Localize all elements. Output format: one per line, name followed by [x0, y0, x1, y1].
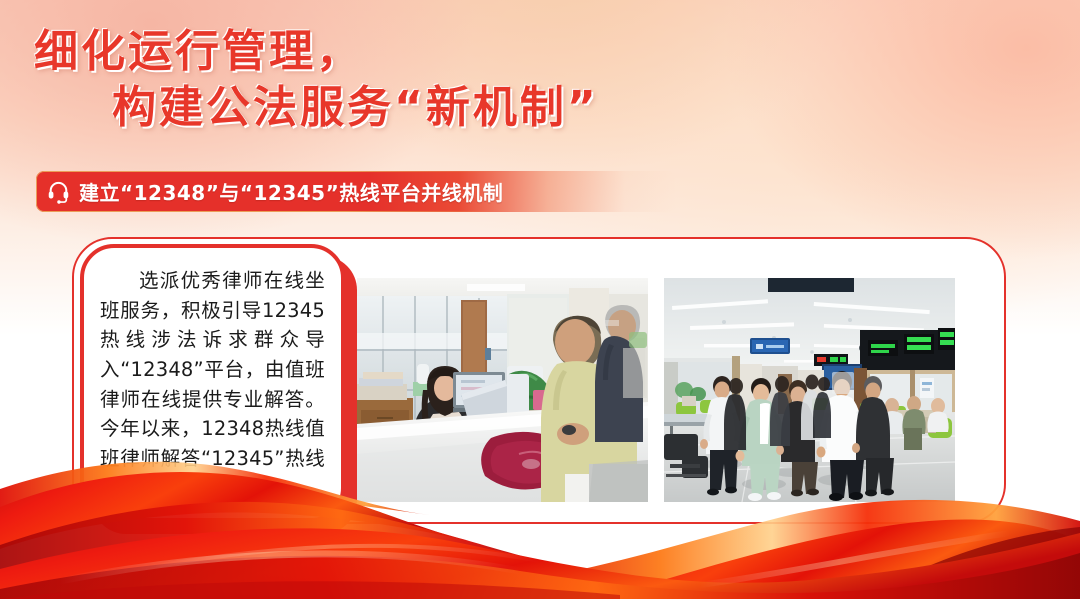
highlight-textbox: 选派优秀律师在线坐班服务，积极引导12345热线涉法诉求群众导入“12348”平… [80, 244, 345, 522]
slide-canvas: 细化运行管理， 构建公法服务“新机制” 建立“12348”与“12345”热线平… [0, 0, 1080, 599]
photo-service-hall [664, 278, 955, 502]
headset-icon [46, 179, 71, 204]
page-title: 细化运行管理， 构建公法服务“新机制” [0, 24, 1000, 137]
textbox-body-suffix: 件。 [217, 476, 256, 499]
section-banner-label: 建立“12348”与“12345”热线平台并线机制 [79, 177, 503, 206]
textbox-highlight-number: 109 [179, 476, 217, 499]
textbox-body-prefix: 选派优秀律师在线坐班服务，积极引导12345热线涉法诉求群众导入“12348”平… [100, 269, 325, 499]
textbox-paragraph: 选派优秀律师在线坐班服务，积极引导12345热线涉法诉求群众导入“12348”平… [100, 266, 325, 503]
title-line-2: 构建公法服务“新机制” [112, 80, 1000, 136]
photo-service-counter [357, 278, 648, 502]
title-line-1: 细化运行管理， [34, 24, 1000, 80]
section-banner: 建立“12348”与“12345”热线平台并线机制 [36, 171, 676, 212]
